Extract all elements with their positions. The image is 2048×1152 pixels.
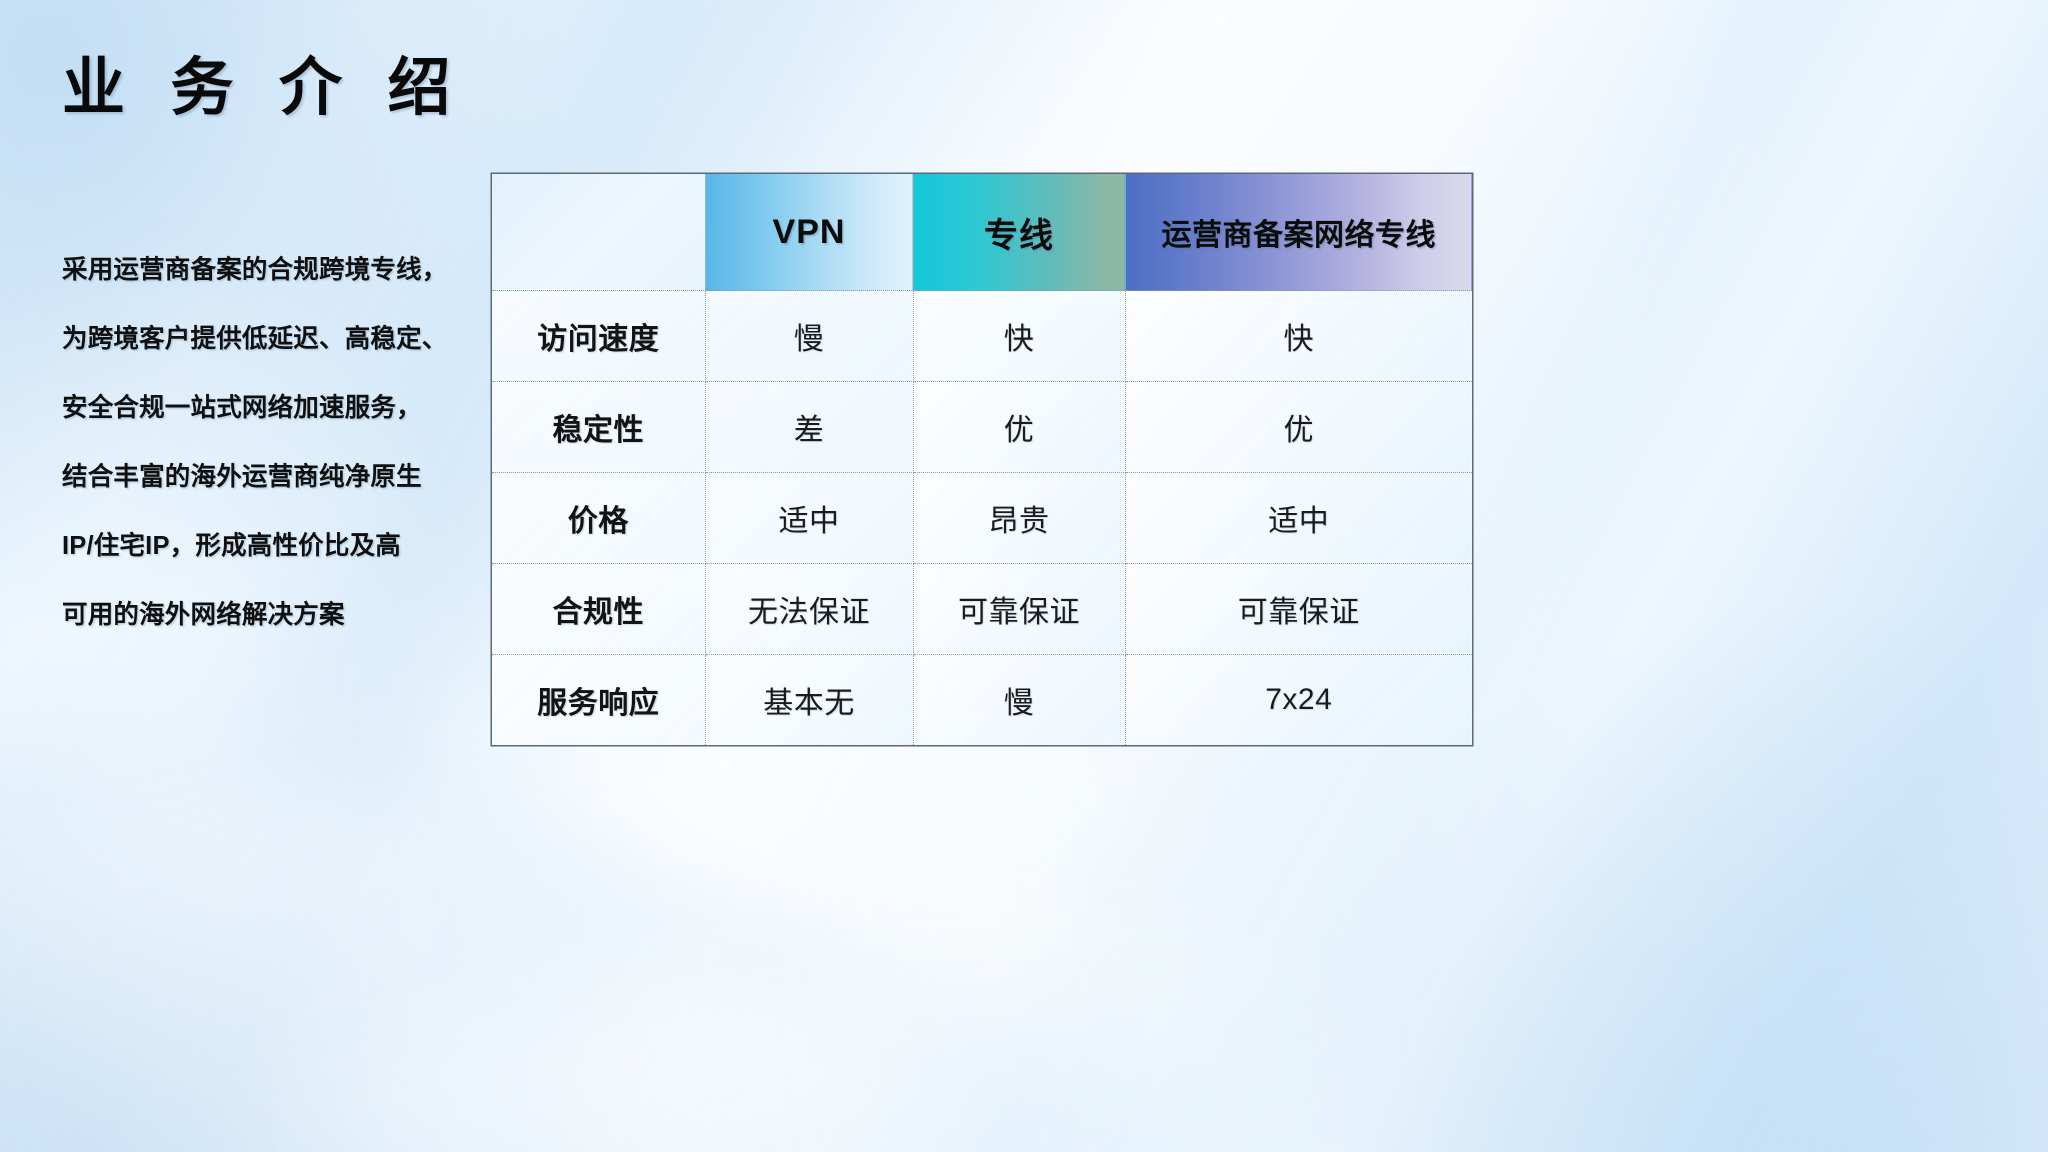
table-header-blank: [492, 174, 705, 291]
table-row: 合规性 无法保证 可靠保证 可靠保证: [492, 564, 1472, 655]
row-attribute-cell: 价格: [492, 473, 705, 564]
cell-dedicated-line: 优: [913, 382, 1125, 473]
row-attribute-cell: 服务响应: [492, 655, 705, 746]
row-attribute-label: 访问速度: [537, 323, 659, 356]
row-attribute-label: 稳定性: [553, 414, 645, 447]
cell-carrier-line-value: 优: [1284, 414, 1315, 447]
cell-vpn-value: 差: [794, 414, 825, 447]
background-light-streak-4: [244, 923, 1376, 1152]
table-header-dedicated-line-label: 专线: [984, 217, 1054, 255]
cell-dedicated-line-value: 可靠保证: [958, 596, 1080, 629]
row-attribute-label: 服务响应: [537, 687, 659, 720]
cell-vpn-value: 无法保证: [748, 596, 870, 629]
intro-line: 可用的海外网络解决方案: [62, 581, 462, 650]
table-row: 访问速度 慢 快 快: [492, 291, 1472, 382]
table-header-row: VPN 专线 运营商备案网络专线: [492, 174, 1472, 291]
cell-vpn-value: 基本无: [763, 687, 855, 720]
table-row: 稳定性 差 优 优: [492, 382, 1472, 473]
row-attribute-cell: 访问速度: [492, 291, 705, 382]
intro-line: 安全合规一站式网络加速服务，: [62, 374, 462, 443]
cell-carrier-line: 优: [1125, 382, 1472, 473]
cell-carrier-line: 快: [1125, 291, 1472, 382]
row-attribute-cell: 稳定性: [492, 382, 705, 473]
comparison-table: VPN 专线 运营商备案网络专线 访问速度 慢 快: [492, 174, 1472, 745]
table-header-carrier-registered-line-label: 运营商备案网络专线: [1162, 219, 1437, 252]
cell-dedicated-line-value: 昂贵: [989, 505, 1050, 538]
cell-vpn: 差: [705, 382, 913, 473]
cell-carrier-line: 适中: [1125, 473, 1472, 564]
intro-line: 为跨境客户提供低延迟、高稳定、: [62, 305, 462, 374]
cell-vpn: 慢: [705, 291, 913, 382]
row-attribute-label: 合规性: [553, 596, 645, 629]
cell-vpn: 基本无: [705, 655, 913, 746]
cell-vpn: 适中: [705, 473, 913, 564]
table-header-dedicated-line: 专线: [913, 174, 1125, 291]
cell-dedicated-line-value: 优: [1004, 414, 1035, 447]
cell-dedicated-line-value: 快: [1004, 323, 1035, 356]
table-row: 服务响应 基本无 慢 7x24: [492, 655, 1472, 746]
intro-line: 采用运营商备案的合规跨境专线，: [62, 236, 462, 305]
cell-carrier-line-value: 可靠保证: [1238, 596, 1360, 629]
intro-line: IP/住宅IP，形成高性价比及高: [62, 512, 462, 581]
cell-vpn-value: 适中: [779, 505, 840, 538]
table-header-vpn-label: VPN: [773, 213, 846, 251]
cell-vpn-value: 慢: [794, 323, 825, 356]
table-row: 价格 适中 昂贵 适中: [492, 473, 1472, 564]
slide-canvas: 业 务 介 绍 采用运营商备案的合规跨境专线， 为跨境客户提供低延迟、高稳定、 …: [0, 0, 2048, 1152]
cell-dedicated-line: 可靠保证: [913, 564, 1125, 655]
cell-dedicated-line-value: 慢: [1004, 687, 1035, 720]
cell-dedicated-line: 慢: [913, 655, 1125, 746]
table-header-carrier-registered-line: 运营商备案网络专线: [1125, 174, 1472, 291]
cell-dedicated-line: 昂贵: [913, 473, 1125, 564]
cell-vpn: 无法保证: [705, 564, 913, 655]
cell-carrier-line-value: 适中: [1268, 505, 1329, 538]
table-header-vpn: VPN: [705, 174, 913, 291]
cell-dedicated-line: 快: [913, 291, 1125, 382]
intro-line: 结合丰富的海外运营商纯净原生: [62, 443, 462, 512]
cell-carrier-line: 可靠保证: [1125, 564, 1472, 655]
cell-carrier-line-value: 快: [1284, 323, 1315, 356]
row-attribute-cell: 合规性: [492, 564, 705, 655]
cell-carrier-line: 7x24: [1125, 655, 1472, 746]
cell-carrier-line-value: 7x24: [1265, 683, 1332, 716]
page-title: 业 务 介 绍: [62, 52, 465, 124]
intro-paragraph: 采用运营商备案的合规跨境专线， 为跨境客户提供低延迟、高稳定、 安全合规一站式网…: [62, 236, 462, 650]
row-attribute-label: 价格: [568, 505, 629, 538]
